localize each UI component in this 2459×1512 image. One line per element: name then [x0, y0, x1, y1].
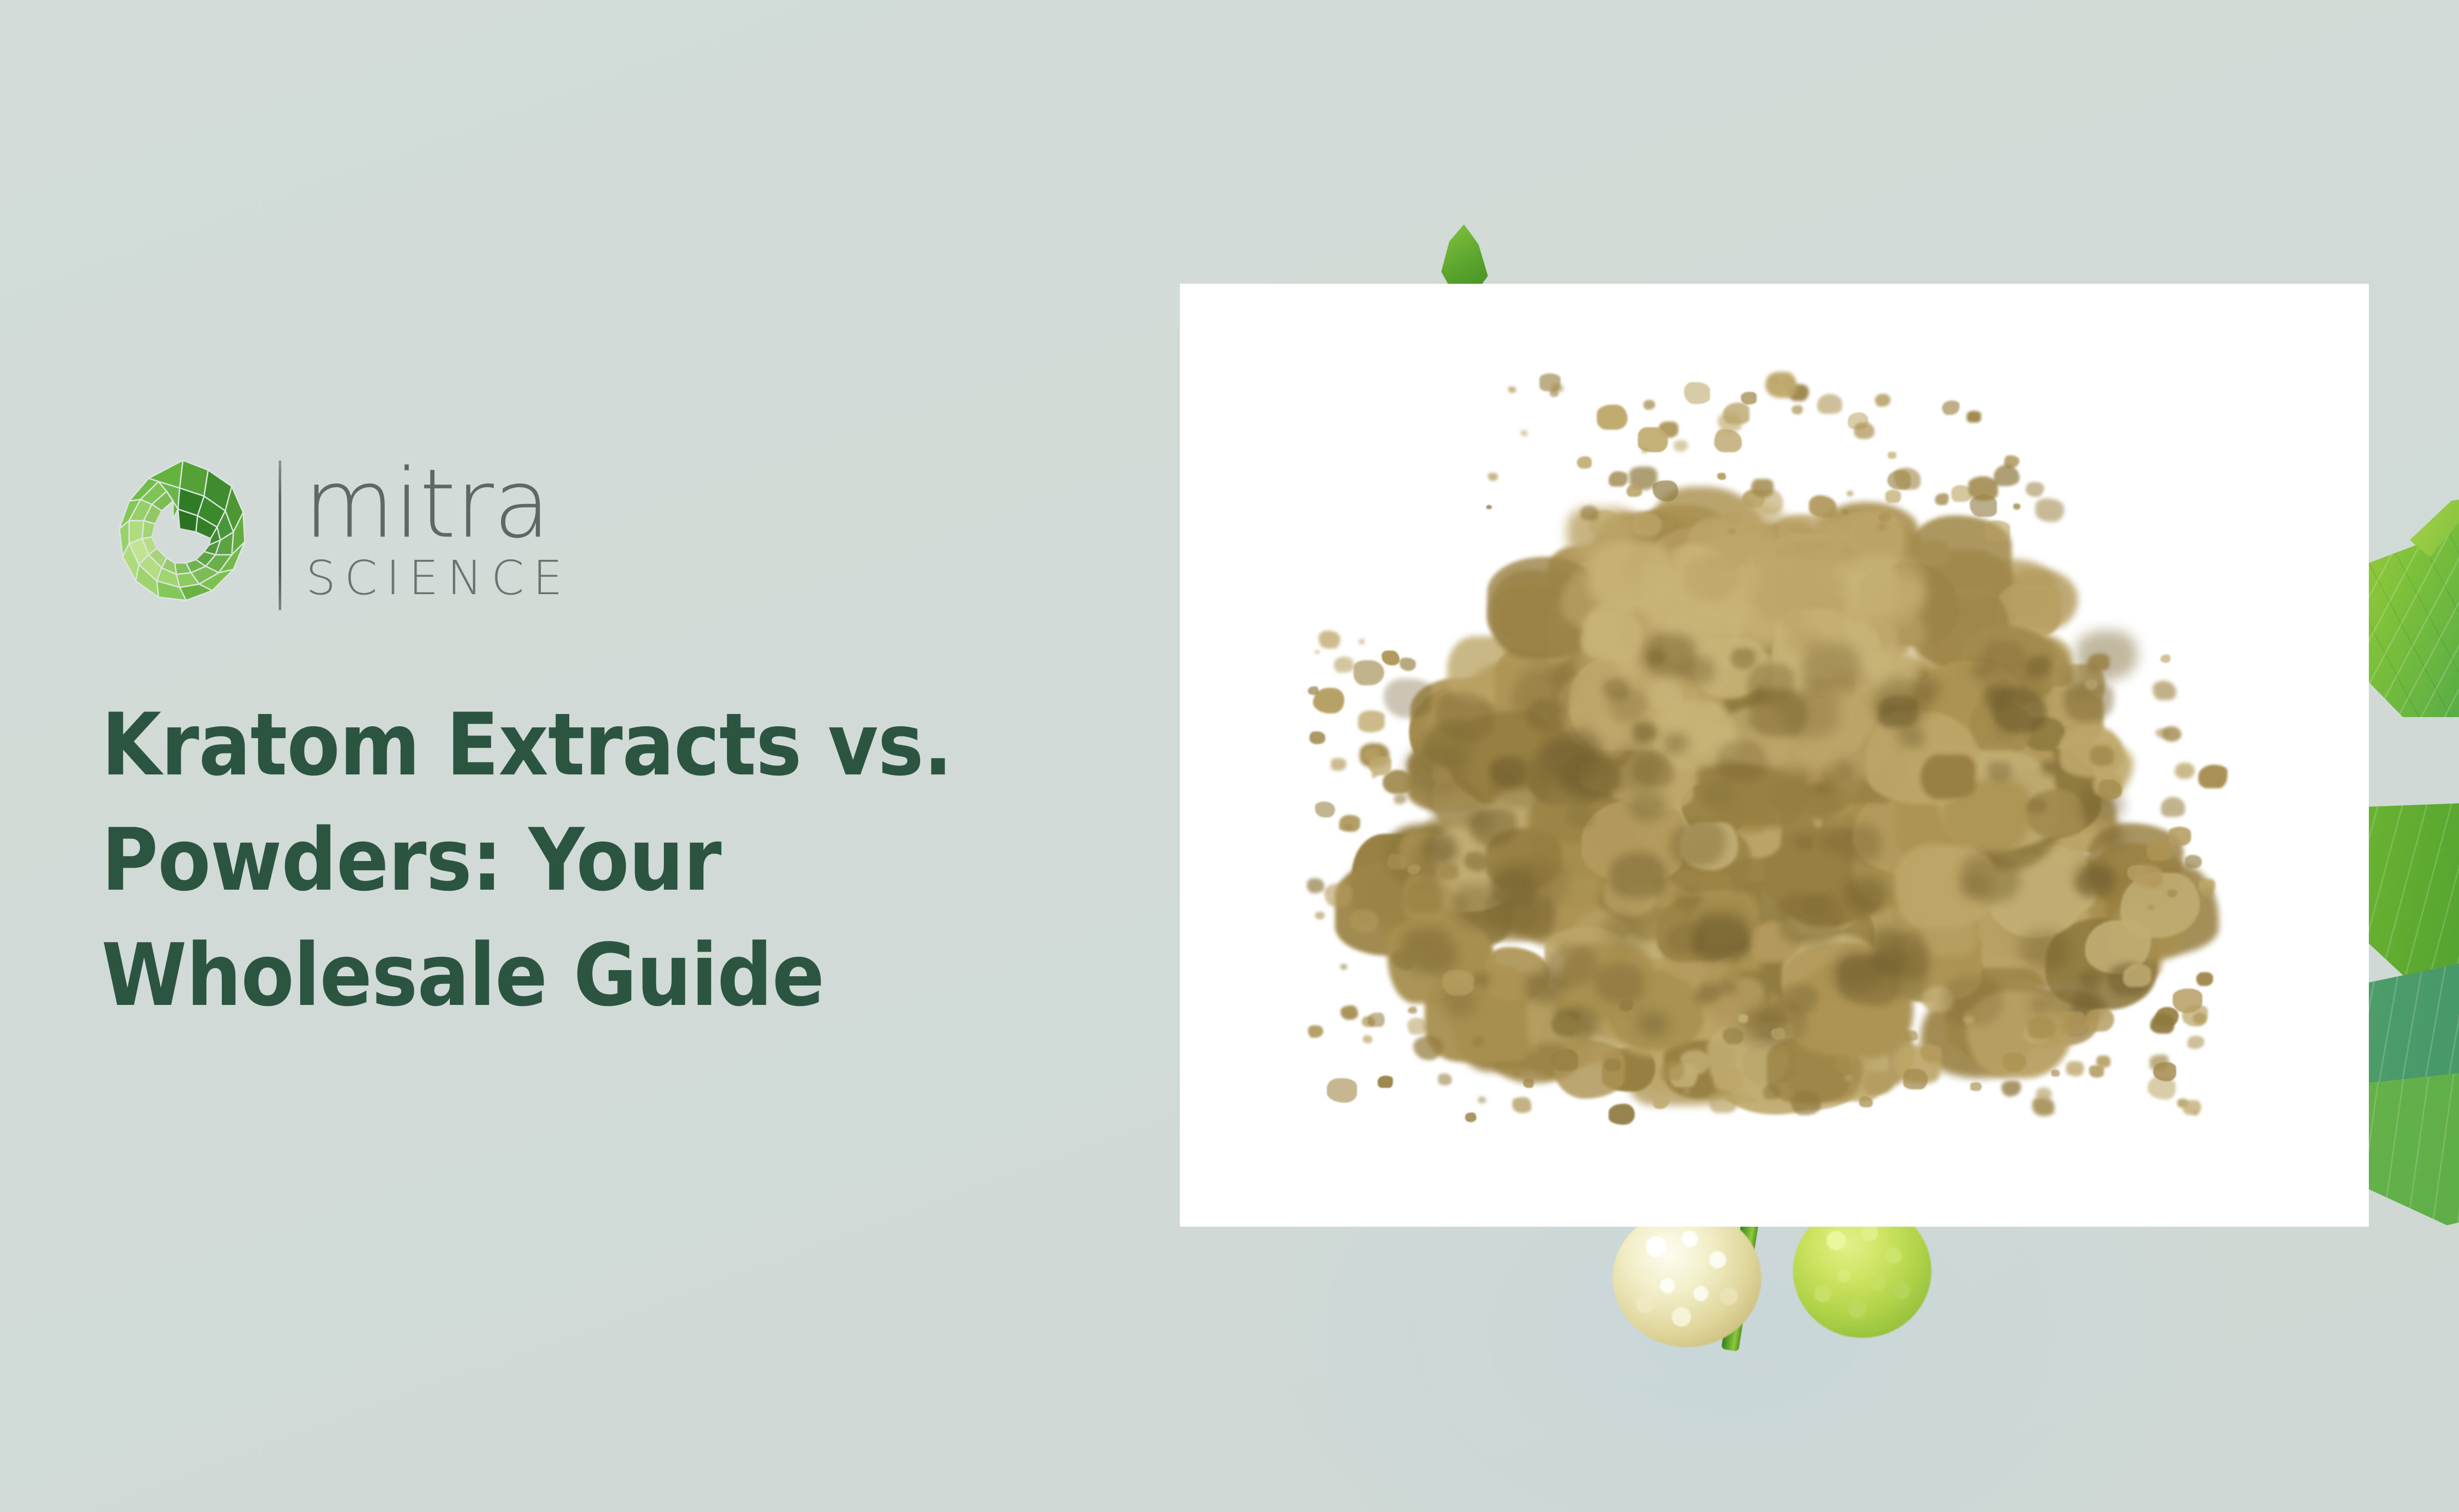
powder-clump: [1609, 1104, 1634, 1125]
powder-clump: [1627, 484, 1642, 497]
powder-clump: [1775, 603, 1804, 627]
powder-clump: [1674, 889, 1702, 911]
powder-clump: [1382, 650, 1400, 665]
powder-clump: [2198, 765, 2227, 788]
powder-clump: [2185, 855, 2202, 869]
powder-clump: [1717, 473, 1726, 480]
powder-clump: [1838, 824, 1882, 861]
powder-clump: [2153, 681, 2176, 700]
powder-clump: [1307, 878, 1325, 893]
powder-clump: [2079, 971, 2102, 990]
powder-clump: [2089, 1065, 2104, 1078]
powder-clump: [2002, 1081, 2020, 1097]
powder-clump: [1885, 490, 1901, 503]
powder-clump: [2085, 680, 2098, 690]
powder-clump: [2162, 726, 2181, 742]
powder-clump: [1845, 1076, 1851, 1080]
powder-clump: [1597, 405, 1628, 430]
powder-clump: [1548, 661, 1574, 683]
powder-clump: [1727, 528, 1736, 535]
powder-clump: [1716, 740, 1767, 782]
powder-clump: [1791, 1090, 1821, 1115]
powder-clump: [2169, 827, 2192, 846]
powder-clump: [1994, 465, 2019, 486]
powder-clump: [1663, 733, 1689, 753]
powder-clump: [1473, 973, 1490, 987]
powder-clump: [1854, 423, 1874, 439]
powder-clump: [1921, 754, 1975, 799]
powder-clump: [1464, 852, 1488, 871]
powder-clump: [1394, 794, 1406, 804]
powder-clump: [2036, 1087, 2052, 1100]
logo-divider: [279, 460, 281, 610]
powder-clump: [2086, 1009, 2114, 1032]
powder-clump: [1580, 506, 1598, 520]
powder-clump: [1590, 541, 1675, 611]
powder-clump: [1968, 476, 1998, 500]
powder-clump: [1842, 510, 1848, 515]
powder-clump: [1566, 805, 1594, 828]
powder-clump: [1723, 1027, 1743, 1044]
powder-clump: [1903, 1069, 1928, 1089]
powder-clump: [1817, 394, 1842, 414]
powder-clump: [1404, 882, 1443, 914]
powder-clump: [1308, 686, 1319, 695]
powder-clump: [1439, 864, 1458, 880]
powder-clump: [1912, 677, 1941, 701]
powder-clump: [2026, 482, 2044, 497]
powder-clump: [1512, 1097, 1531, 1112]
powder-clump: [2150, 1014, 2174, 1034]
powder-clump: [1779, 894, 1842, 946]
powder-clump: [1674, 440, 1688, 452]
powder-clump: [1985, 520, 2010, 541]
powder-clump: [1899, 726, 1925, 748]
powder-clump: [1309, 731, 1325, 744]
powder-clump: [1894, 468, 1921, 490]
powder-clump: [1962, 853, 2020, 901]
powder-clump: [1832, 949, 1884, 992]
powder-clump: [2096, 1056, 2111, 1067]
powder-clump: [1408, 921, 1418, 929]
powder-clump: [1453, 885, 1507, 928]
powder-clump: [2090, 746, 2114, 766]
mitra-ring-logo-icon: [101, 454, 264, 617]
powder-clump: [2134, 865, 2162, 888]
powder-clump: [1367, 1013, 1385, 1027]
powder-clump: [2026, 789, 2085, 838]
powder-clump: [1359, 639, 1364, 643]
powder-clump: [1508, 387, 1515, 393]
powder-clump: [1633, 722, 1658, 743]
wordmark-primary: mitra: [304, 466, 571, 542]
powder-clump: [1835, 1058, 1853, 1073]
powder-clump: [1632, 512, 1662, 536]
powder-clump: [1551, 1049, 1578, 1071]
powder-clump: [1363, 1035, 1372, 1043]
powder-clump: [2035, 498, 2064, 522]
powder-clump: [2058, 1012, 2087, 1035]
kratom-leaf-icon: [2354, 1068, 2459, 1232]
powder-clump: [2175, 763, 2195, 779]
powder-clump: [1904, 1031, 1918, 1042]
powder-clump: [1762, 533, 1768, 538]
powder-clump: [1400, 658, 1415, 671]
powder-clump: [1878, 523, 1886, 531]
powder-clump: [1970, 1082, 1982, 1091]
powder-clump: [1513, 1070, 1520, 1076]
powder-clump: [1465, 1112, 1476, 1122]
powder-clump: [1714, 1068, 1743, 1092]
powder-clump: [1796, 836, 1813, 850]
powder-clump: [1984, 641, 2026, 675]
powder-clump: [2041, 761, 2058, 774]
powder-clump: [1523, 1079, 1534, 1088]
powder-clump: [1888, 452, 1897, 459]
powder-clump: [1324, 884, 1352, 907]
powder-clump: [2028, 799, 2046, 814]
brand-logo[interactable]: mitra SCIENCE: [101, 451, 1126, 620]
headline-line-1: Kratom Extracts vs.: [101, 687, 1075, 803]
brand-wordmark: mitra SCIENCE: [304, 458, 571, 612]
powder-clump: [2182, 1005, 2208, 1026]
powder-clump: [1814, 781, 1830, 795]
powder-clump: [1594, 962, 1644, 1003]
powder-clump: [1845, 554, 1924, 619]
powder-clump: [1709, 1089, 1737, 1112]
powder-clump: [1408, 1006, 1417, 1014]
powder-clump: [2150, 1055, 2169, 1070]
hero-image-card: [1180, 284, 2369, 1227]
powder-clump: [1315, 802, 1335, 818]
powder-clump: [1521, 431, 1527, 436]
powder-clump: [2013, 503, 2020, 510]
powder-clump: [1641, 448, 1648, 453]
powder-clump: [1353, 660, 1384, 685]
powder-clump: [2051, 1069, 2060, 1077]
powder-clump: [1327, 1078, 1357, 1103]
wordmark-secondary: SCIENCE: [306, 554, 571, 603]
powder-clump: [1747, 663, 1794, 702]
powder-clump: [2193, 1111, 2199, 1116]
powder-clump: [2161, 797, 2185, 817]
powder-clump: [1358, 710, 1385, 732]
powder-clump: [1878, 695, 1918, 727]
powder-clump: [1935, 493, 1949, 505]
powder-clump: [1341, 964, 1347, 970]
powder-clump: [1801, 643, 1861, 692]
powder-clump: [1684, 556, 1739, 601]
powder-clump: [1602, 678, 1629, 700]
powder-clump: [1610, 852, 1666, 899]
powder-clump: [1942, 401, 1960, 415]
powder-clump: [1765, 372, 1797, 397]
powder-clump: [1967, 411, 1981, 423]
powder-clump: [1738, 1014, 1748, 1022]
powder-clump: [2031, 996, 2052, 1013]
powder-clump: [1609, 471, 1628, 487]
headline-line-3: Wholesale Guide: [101, 918, 1075, 1033]
powder-clump: [1680, 1050, 1709, 1074]
powder-clump: [1583, 612, 1643, 661]
powder-clump: [1413, 1036, 1443, 1060]
kratom-powder-image: [1313, 379, 2230, 1106]
powder-clump: [2098, 827, 2124, 848]
powder-clump: [1486, 505, 1492, 510]
powder-clump: [1684, 382, 1711, 404]
powder-clump: [1693, 917, 1748, 962]
powder-clump: [1315, 912, 1325, 919]
powder-clump: [1731, 648, 1755, 668]
powder-clump: [1751, 479, 1774, 497]
powder-clump: [1684, 1089, 1690, 1094]
powder-clump: [1371, 773, 1377, 778]
powder-clump: [2074, 860, 2113, 892]
kratom-flower-cream-icon: [1613, 1209, 1761, 1347]
powder-clump: [1552, 384, 1563, 393]
powder-clump: [1339, 815, 1360, 832]
hero-content: mitra SCIENCE Kratom Extracts vs. Powder…: [101, 451, 1126, 1091]
powder-clump: [1669, 821, 1725, 867]
powder-clump: [2027, 1016, 2055, 1039]
powder-clump: [1350, 910, 1379, 933]
powder-clump: [2160, 655, 2171, 663]
powder-clump: [1331, 758, 1346, 771]
powder-clump: [2123, 964, 2151, 987]
powder-clump: [1384, 679, 1432, 718]
powder-clump: [1643, 634, 1696, 677]
powder-clump: [1491, 759, 1552, 808]
powder-clump: [1611, 1078, 1622, 1087]
powder-clump: [1443, 970, 1474, 996]
powder-clump: [1987, 671, 2045, 718]
powder-clump: [1725, 511, 1741, 525]
powder-clump: [1964, 1016, 1974, 1024]
powder-clump: [1987, 762, 2011, 781]
powder-clump: [1714, 429, 1742, 452]
powder-clump: [1478, 1097, 1486, 1103]
powder-clump: [1921, 1045, 1941, 1062]
powder-clump: [1847, 491, 1853, 496]
powder-clump: [1577, 456, 1592, 469]
powder-clump: [1378, 1076, 1393, 1088]
powder-clump: [1875, 394, 1890, 406]
powder-clump: [1719, 980, 1736, 994]
powder-clump: [1809, 495, 1836, 518]
powder-clump: [1763, 1085, 1781, 1099]
powder-clump: [1643, 400, 1655, 410]
powder-clump: [2201, 887, 2213, 897]
powder-clump: [2098, 780, 2122, 799]
powder-clump: [1604, 1059, 1621, 1072]
powder-clump: [1315, 650, 1320, 654]
powder-clump: [1718, 413, 1741, 432]
powder-clump: [1791, 405, 1803, 414]
powder-clump: [1308, 1025, 1323, 1038]
hero-banner: mitra SCIENCE Kratom Extracts vs. Powder…: [0, 0, 2459, 1512]
powder-clump: [2066, 1061, 2084, 1076]
powder-clump: [1527, 699, 1567, 732]
powder-clump: [1653, 1095, 1670, 1109]
page-title: Kratom Extracts vs. Powders: Your Wholes…: [101, 687, 1075, 1033]
powder-clump: [1438, 1074, 1452, 1085]
powder-clump: [1994, 713, 2022, 736]
powder-clump: [1488, 473, 1498, 481]
powder-clump: [1653, 480, 1678, 501]
powder-clump: [2187, 1036, 2204, 1049]
powder-clump: [1387, 854, 1407, 870]
powder-clump: [1341, 1005, 1358, 1020]
powder-clump: [1863, 1071, 1892, 1095]
powder-clump: [2196, 972, 2213, 986]
powder-clump: [2148, 905, 2154, 910]
powder-clump: [1407, 1018, 1427, 1034]
powder-clump: [1703, 782, 1733, 806]
powder-clump: [1319, 631, 1341, 648]
powder-clump: [1334, 657, 1353, 673]
headline-line-2: Powders: Your: [101, 803, 1075, 918]
powder-clump: [1436, 692, 1494, 740]
powder-clump: [1364, 748, 1380, 762]
powder-clump: [1638, 1012, 1669, 1037]
powder-clump: [1660, 1060, 1685, 1081]
powder-clump: [2003, 1053, 2027, 1072]
powder-clump: [1834, 762, 1854, 778]
powder-clump: [2088, 654, 2110, 671]
